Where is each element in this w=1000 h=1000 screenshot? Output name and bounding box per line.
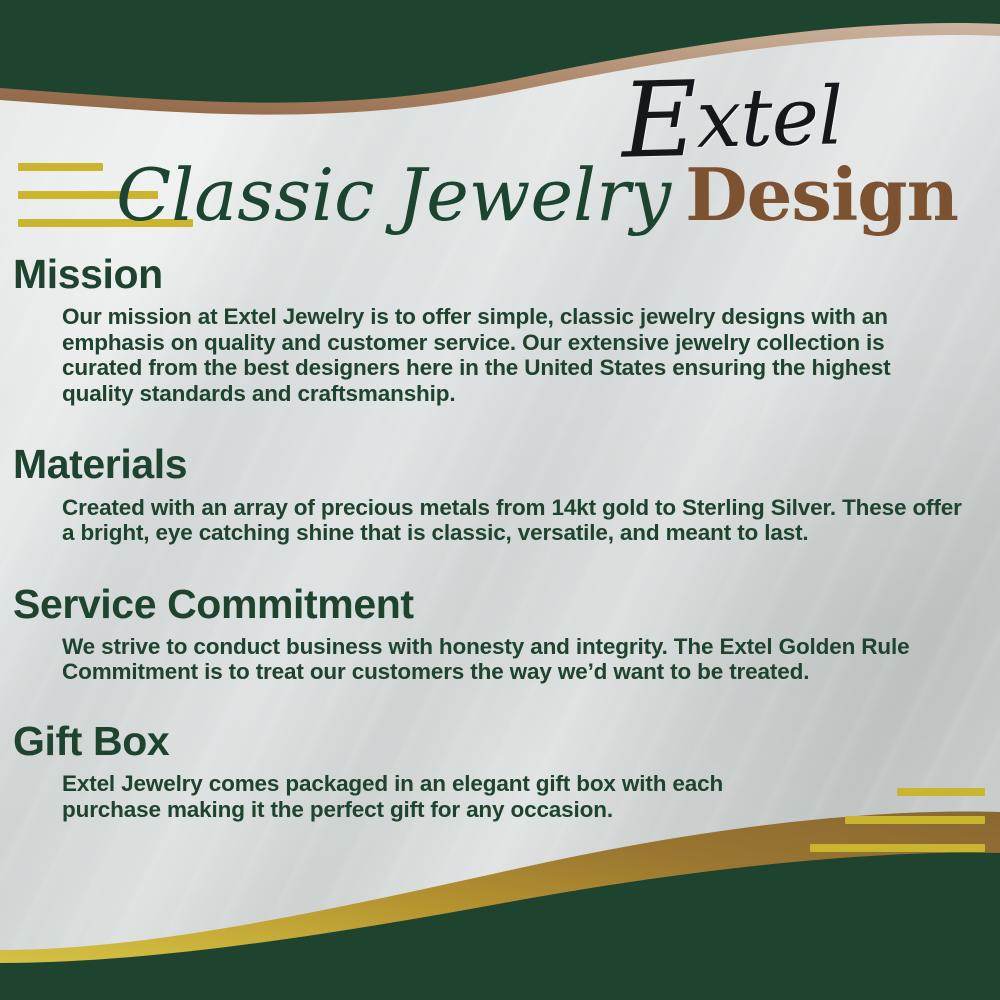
poster-title: Classic JewelryDesign	[0, 152, 958, 237]
section-heading: Gift Box	[13, 719, 1000, 763]
poster-canvas: Extel Classic JewelryDesign Mission Our …	[0, 0, 1000, 1000]
section-paragraph: Created with an array of precious metals…	[62, 495, 964, 546]
section-body: We strive to conduct business with hones…	[62, 634, 964, 685]
section-paragraph: We strive to conduct business with hones…	[62, 634, 964, 685]
gold-bar	[810, 844, 985, 852]
section-service-commitment: Service Commitment We strive to conduct …	[0, 582, 1000, 685]
section-materials: Materials Created with an array of preci…	[0, 442, 1000, 545]
gold-bars-bottom-right	[810, 788, 985, 852]
section-heading: Service Commitment	[13, 582, 1000, 626]
gold-bar	[897, 788, 985, 796]
section-body: Created with an array of precious metals…	[62, 495, 964, 546]
section-body: Extel Jewelry comes packaged in an elega…	[62, 771, 760, 822]
title-classic-jewelry: Classic Jewelry	[116, 153, 671, 237]
section-heading: Mission	[13, 252, 1000, 296]
section-body: Our mission at Extel Jewelry is to offer…	[62, 304, 964, 406]
title-design: Design	[685, 152, 958, 237]
sections-container: Mission Our mission at Extel Jewelry is …	[0, 252, 1000, 822]
section-paragraph: Extel Jewelry comes packaged in an elega…	[62, 771, 760, 822]
section-mission: Mission Our mission at Extel Jewelry is …	[0, 252, 1000, 406]
section-heading: Materials	[13, 442, 1000, 486]
section-paragraph: Our mission at Extel Jewelry is to offer…	[62, 304, 964, 406]
gold-bar	[845, 816, 985, 824]
